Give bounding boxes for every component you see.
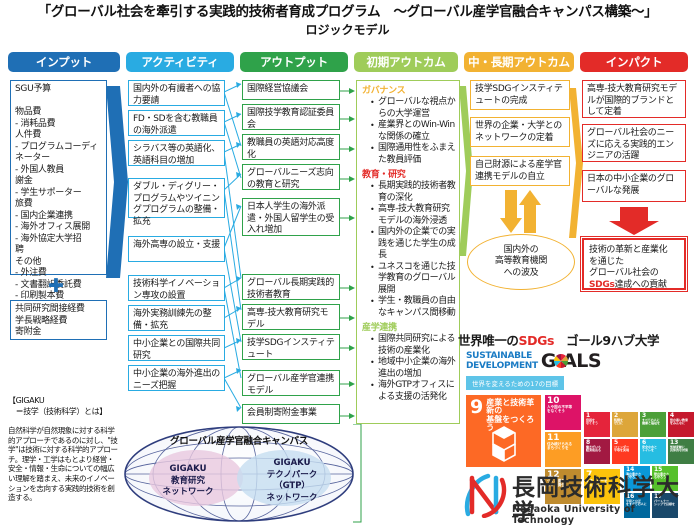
column-header-outcome1: 初期アウトカム <box>354 52 458 72</box>
outcome2-item-3: 自己財源による産学官連携モデルの自立 <box>470 156 570 186</box>
sdgs-logo: SUSTAINABLE DEVELOPMENT G ALS 世界を変えるための1… <box>466 352 614 390</box>
column-header-impact: インパクト <box>580 52 688 72</box>
sdg-tile-text: 飢餓を ゼロに <box>614 419 636 425</box>
sdg-tile-4: 4 質の高い教育 をみんなに <box>668 412 694 437</box>
impact-final-sdgs: SDGs <box>589 280 615 290</box>
globe-left-label: GIGAKU 教育研究 ネットワーク <box>140 464 236 499</box>
column-header-activity: アクティビティ <box>126 52 234 72</box>
impact-final-box: 技術の革新と産業化 を通じた グローバル社会の SDGs達成への貢献 <box>582 238 686 290</box>
sdg-tile-10: 10 人や国の不平等 をなくそう <box>545 395 581 430</box>
sdgs-color-wheel-icon <box>553 353 569 369</box>
page-title: 「グローバル社会を牽引する実践的技術者育成プログラム ～グローバル産学官融合キャ… <box>0 4 695 38</box>
list-item: 地域中小企業の海外進出の増加 <box>371 357 456 380</box>
output-item-1: 国際経営協議会 <box>242 80 340 100</box>
sdg-tile-text: 人や国の不平等 をなくそう <box>547 406 579 414</box>
sdg-tile-8: 8 働きがいも 経済成長も <box>584 439 610 464</box>
outcome2-item-1: 技学SDGインスティテュートの完成 <box>470 80 570 110</box>
output-item-8: 技学SDGインスティテュート <box>242 334 340 360</box>
output-item-9: グローバル産学官連携モデル <box>242 370 340 396</box>
sdgs-headline: 世界唯一のSDGs ゴール9ハブ大学 <box>458 330 659 349</box>
output-item-3: 教職員の英語対応高度化 <box>242 134 340 160</box>
list-item: 国際共同研究による技術の産業化 <box>371 334 456 357</box>
arrows-output-to-outcome1 <box>339 78 357 426</box>
outcome1-section-governance-heading: ガバナンス <box>362 85 456 97</box>
sdg-tile-text: 住み続けられる まちづくりを <box>547 443 579 451</box>
nagaoka-n-logo-icon <box>462 472 510 518</box>
globe-right-label: GIGAKU テクノパーク （GTP） ネットワーク <box>240 458 344 504</box>
column-header-input: インプット <box>8 52 120 72</box>
sdg-tile-3: 3 すべての人に 健康と福祉を <box>640 412 666 437</box>
sdg-tile-6: 6 安全な水と トイレを <box>640 439 666 464</box>
sdg-tile-text: 安全な水と トイレを <box>642 446 664 452</box>
outcome2-item-2: 世界の企業・大学とのネットワークの定着 <box>470 117 570 147</box>
sdg-tile-text: 働きがいも 経済成長も <box>586 446 608 452</box>
activity-item-2: FD・SDを含む教職員の海外派遣 <box>128 110 225 136</box>
activity-item-1: 国内外の有識者への協力要請 <box>128 80 225 106</box>
impact-item-1: 高専-技大教育研究モデルが国際的ブランドとして定着 <box>582 80 686 118</box>
sdg-tile-11: 11 住み続けられる まちづくりを <box>545 432 581 467</box>
sdg-tile-text: 質の高い教育 をみんなに <box>670 419 692 425</box>
activity-item-7: 海外実務訓練先の整備・拡充 <box>128 305 225 331</box>
outcome2-ellipse: 国内外の 高等教育機関 への波及 <box>467 234 575 290</box>
list-item: グローバルな視点からの大学運営 <box>371 97 456 120</box>
sdg-tile-text: すべての人に 健康と福祉を <box>642 419 664 425</box>
outcome1-section-industry-heading: 産学連携 <box>362 322 456 334</box>
sdg-tile-5: 5 ジェンダー 平等を実現 <box>612 439 638 464</box>
impact-final-pre: 技術の革新と産業化 を通じた グローバル社会の <box>589 245 667 278</box>
sdg-tile-text: 貧困を なくそう <box>586 419 608 425</box>
sdgs-ribbon: 世界を変えるための17の目標 <box>466 376 564 390</box>
sdg-tile-text: ジェンダー 平等を実現 <box>614 446 636 452</box>
list-item: 学生・教職員の自由なキャンパス間移動 <box>371 296 456 319</box>
list-item: 高専-技大教育研究モデルの海外浸透 <box>371 204 456 227</box>
output-item-2: 国際技学教育認証委員会 <box>242 104 340 130</box>
outcome1-panel: ガバナンス グローバルな視点からの大学運営 産業界とのWin-Winな関係の確立… <box>356 80 460 424</box>
activity-item-4: ダブル・ディグリー・プログラムやツイニングプログラムの整備・拡充 <box>128 178 225 218</box>
university-name-en: Nagaoka University of Technology <box>512 504 695 526</box>
sdg-tile-text: 気候変動に 具体的な対策 <box>670 446 692 452</box>
arrow-input-to-activity <box>106 86 128 278</box>
list-item: 産業界とのWin-Winな関係の確立 <box>371 120 456 143</box>
connectors-activity-to-output <box>224 78 242 413</box>
list-item: ユネスコを通じた技学教育のグローバル展開 <box>371 262 456 297</box>
sdg-goal-9-cubes-icon <box>484 425 524 463</box>
bidirectional-arrow-icon <box>500 190 542 234</box>
impact-item-2: グローバル社会のニーズに応える実践的エンジニアの活躍 <box>582 124 686 162</box>
globe-title: グローバル産学官融合キャンパス <box>124 436 354 448</box>
plus-icon: ✚ <box>48 277 64 296</box>
gigaku-note-body: 自然科学が自然現象に対する科学的アプローチであるのに対し、"技学"は技術に対する… <box>8 426 120 503</box>
input-other-funds-box: 共同研究間接経費 学長戦略経費 寄附金 <box>10 300 107 340</box>
output-item-10: 会員制寄附金事業 <box>242 404 340 424</box>
output-item-7: 高専-技大教育研究モデル <box>242 304 340 330</box>
outcome1-governance-list: グローバルな視点からの大学運営 産業界とのWin-Winな関係の確立 国際通用性… <box>362 97 456 166</box>
sdg-tile-2: 2 飢餓を ゼロに <box>612 412 638 437</box>
title-sub: ロジックモデル <box>0 22 695 38</box>
sdg-tile-1: 1 貧困を なくそう <box>584 412 610 437</box>
list-item: 国際通用性をふまえた教員評価 <box>371 143 456 166</box>
activity-item-3: シラバス等の英語化、英語科目の増加 <box>128 140 225 166</box>
activity-item-8: 中小企業との国際共同研究 <box>128 335 225 361</box>
sdgs-logo-goals: G ALS <box>541 352 601 371</box>
sdgs-headline-post: ゴール9ハブ大学 <box>554 333 659 348</box>
arrow-down-impact-icon <box>609 207 659 235</box>
title-main: 「グローバル社会を牽引する実践的技術者育成プログラム ～グローバル産学官融合キャ… <box>0 4 695 21</box>
globe-connector <box>352 424 366 524</box>
impact-final-post: 達成への貢献 <box>615 280 667 290</box>
list-item: 国内外の企業での実践を通じた学生の成長 <box>371 227 456 262</box>
gigaku-note-heading: 【GIGAKU ＝技学（技術科学）とは】 <box>8 396 120 417</box>
activity-item-6: 技術科学イノベーション専攻の設置 <box>128 275 225 301</box>
outcome1-education-list: 長期実践的技術者教育の深化 高専-技大教育研究モデルの海外浸透 国内外の企業での… <box>362 181 456 319</box>
input-budget-box: SGU予算 物品費 - 消耗品費 人件費 - プログラムコーディ ネーター - … <box>10 80 107 275</box>
activity-item-5: 海外高専の設立・支援 <box>128 236 225 262</box>
output-item-5: 日本人学生の海外派遣・外国人留学生の受入れ増加 <box>242 198 340 236</box>
outcome1-industry-list: 国際共同研究による技術の産業化 地域中小企業の海外進出の増加 海外GTPオフィス… <box>362 334 456 403</box>
sdg-goal-9-tile: 9 産業と技術革新の 基盤をつくろう <box>466 395 541 467</box>
sdgs-headline-sdgs: SDGs <box>519 333 554 348</box>
output-item-4: グローバルニーズ志向の教育と研究 <box>242 164 340 190</box>
sdgs-headline-pre: 世界唯一の <box>458 333 519 348</box>
column-header-outcome2: 中・長期アウトカム <box>464 52 574 72</box>
list-item: 長期実践的技術者教育の深化 <box>371 181 456 204</box>
outcome1-section-education-heading: 教育・研究 <box>362 169 456 181</box>
column-header-output: アウトプット <box>240 52 348 72</box>
impact-item-3: 日本の中小企業のグローバルな発展 <box>582 170 686 202</box>
list-item: 海外GTPオフィスによる支援の活発化 <box>371 380 456 403</box>
sdg-goal-9-number: 9 <box>470 398 483 417</box>
output-item-6: グローバル長期実践的技術者教育 <box>242 274 340 300</box>
sdgs-logo-line2: DEVELOPMENT <box>466 362 538 372</box>
activity-item-9: 中小企業の海外進出のニーズ把握 <box>128 365 225 391</box>
sdg-tile-13: 13 気候変動に 具体的な対策 <box>668 439 694 464</box>
arrow-outcome2-to-impact <box>569 88 583 238</box>
